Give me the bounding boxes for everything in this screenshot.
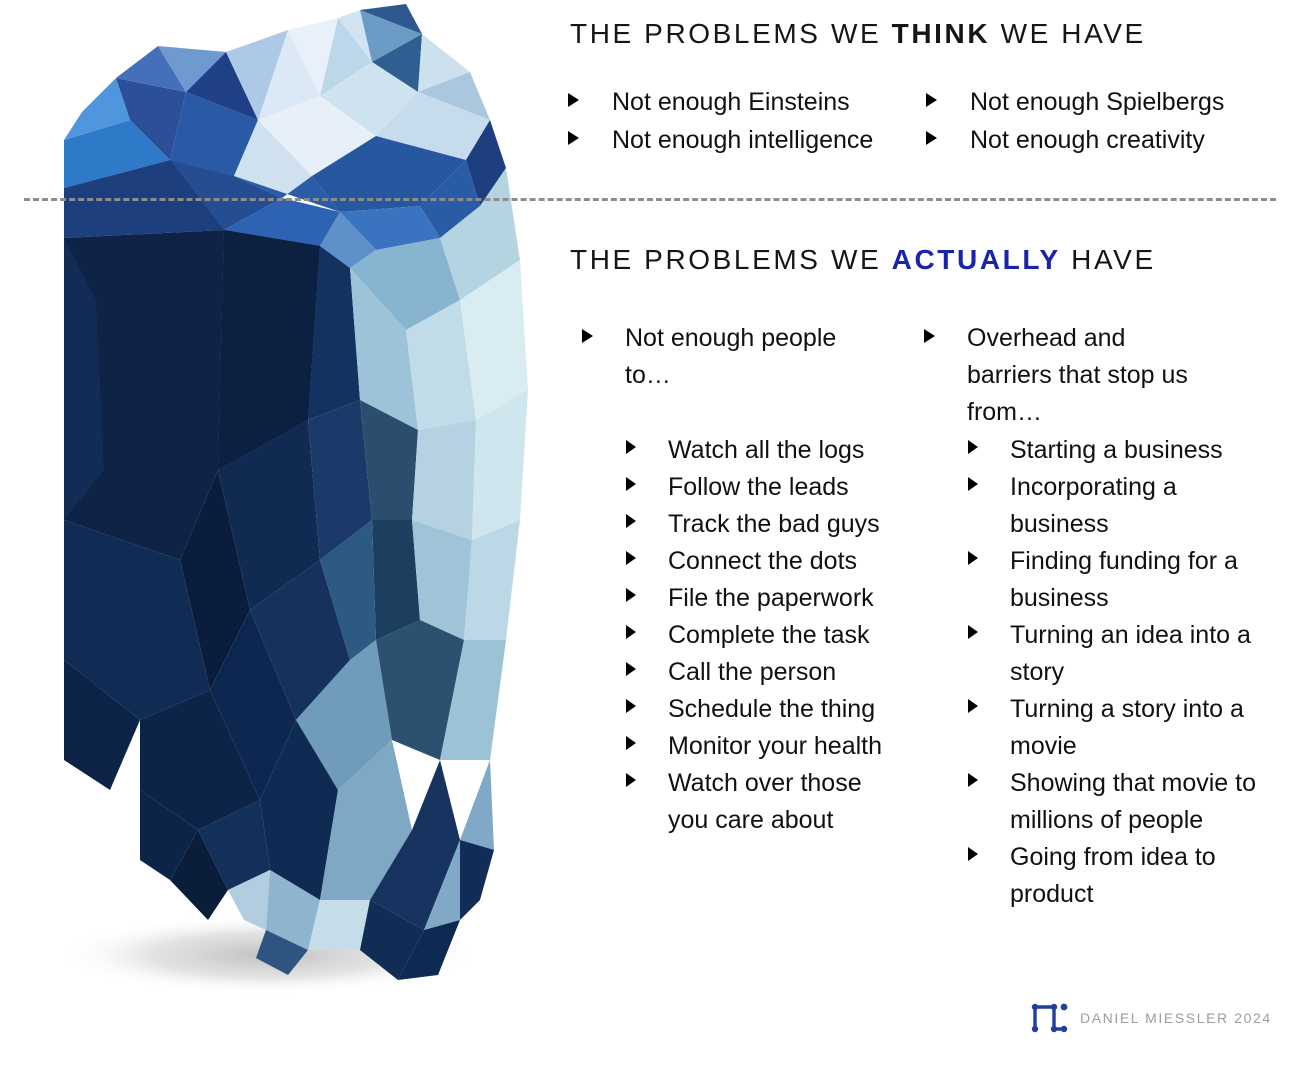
list-item-label: Watch over those you care about xyxy=(636,765,898,839)
triangle-bullet-icon xyxy=(626,551,636,565)
think-column-left: Not enough Einsteins Not enough intellig… xyxy=(568,84,926,160)
triangle-bullet-icon xyxy=(968,551,978,565)
triangle-bullet-icon xyxy=(568,131,579,145)
triangle-bullet-icon xyxy=(968,847,978,861)
list-item: Follow the leads xyxy=(626,469,923,506)
list-item-label: Not enough Spielbergs xyxy=(937,84,1224,121)
actually-column-left-heading: Not enough people to… xyxy=(568,320,923,431)
content-column: THE PROBLEMS WE THINK WE HAVE Not enough… xyxy=(568,0,1280,1072)
triangle-bullet-icon xyxy=(924,329,935,343)
list-item: Showing that movie to millions of people xyxy=(968,765,1280,839)
title-actually-emphasis: ACTUALLY xyxy=(892,244,1061,275)
list-item: Watch all the logs xyxy=(626,432,923,469)
list-item-label: Not enough Einsteins xyxy=(579,84,850,121)
list-item: Complete the task xyxy=(626,617,923,654)
triangle-bullet-icon xyxy=(626,662,636,676)
list-item-label: Monitor your health xyxy=(636,728,882,765)
list-item-label: Starting a business xyxy=(978,432,1223,469)
triangle-bullet-icon xyxy=(582,329,593,343)
triangle-bullet-icon xyxy=(626,514,636,528)
actually-sublist-left: Watch all the logs Follow the leads Trac… xyxy=(568,432,923,913)
list-item: Turning an idea into a story xyxy=(968,617,1280,691)
triangle-bullet-icon xyxy=(968,477,978,491)
triangle-bullet-icon xyxy=(626,477,636,491)
list-item: Watch over those you care about xyxy=(626,765,923,839)
low-poly-iceberg-svg xyxy=(20,0,540,1020)
list-item-label: Connect the dots xyxy=(636,543,857,580)
list-item: Overhead and barriers that stop us from… xyxy=(923,320,1280,431)
waterline-dashed-divider xyxy=(24,198,1276,201)
list-item: Not enough people to… xyxy=(568,320,923,394)
iceberg-body xyxy=(64,4,528,980)
triangle-bullet-icon xyxy=(626,440,636,454)
title-think-suffix: WE HAVE xyxy=(990,18,1146,49)
title-think-prefix: THE PROBLEMS WE xyxy=(570,18,892,49)
list-item: Starting a business xyxy=(968,432,1280,469)
triangle-bullet-icon xyxy=(568,93,579,107)
list-item: Schedule the thing xyxy=(626,691,923,728)
list-item-label: Finding funding for a business xyxy=(978,543,1258,617)
actually-top-level-lists: Not enough people to… Overhead and barri… xyxy=(568,320,1280,431)
title-think-emphasis: THINK xyxy=(892,18,991,49)
list-item: Monitor your health xyxy=(626,728,923,765)
list-item-label: Watch all the logs xyxy=(636,432,864,469)
list-item-label: Call the person xyxy=(636,654,836,691)
list-item: Turning a story into a movie xyxy=(968,691,1280,765)
title-actually-suffix: HAVE xyxy=(1061,244,1156,275)
list-item-label: Follow the leads xyxy=(636,469,849,506)
list-item: Going from idea to product xyxy=(968,839,1280,913)
actually-sublist-right: Starting a business Incorporating a busi… xyxy=(923,432,1280,913)
list-item: File the paperwork xyxy=(626,580,923,617)
triangle-bullet-icon xyxy=(926,93,937,107)
list-item-label: Overhead and barriers that stop us from… xyxy=(935,320,1217,431)
list-item-label: File the paperwork xyxy=(636,580,874,617)
daniel-miessler-logo-icon xyxy=(1030,1000,1070,1036)
list-item: Connect the dots xyxy=(626,543,923,580)
list-item-label: Not enough people to… xyxy=(593,320,875,394)
list-item-label: Turning a story into a movie xyxy=(978,691,1258,765)
triangle-bullet-icon xyxy=(626,588,636,602)
list-item: Not enough intelligence xyxy=(568,122,926,159)
list-item-label: Track the bad guys xyxy=(636,506,880,543)
list-item: Call the person xyxy=(626,654,923,691)
triangle-bullet-icon xyxy=(926,131,937,145)
list-item-label: Incorporating a business xyxy=(978,469,1258,543)
think-bullet-lists: Not enough Einsteins Not enough intellig… xyxy=(568,84,1280,160)
list-item: Not enough Einsteins xyxy=(568,84,926,121)
triangle-bullet-icon xyxy=(968,773,978,787)
iceberg-illustration xyxy=(20,0,540,1020)
list-item: Not enough creativity xyxy=(926,122,1280,159)
footer-credit: DANIEL MIESSLER 2024 xyxy=(1030,1000,1272,1036)
think-column-right: Not enough Spielbergs Not enough creativ… xyxy=(926,84,1280,160)
actually-sub-lists: Watch all the logs Follow the leads Trac… xyxy=(568,432,1280,913)
triangle-bullet-icon xyxy=(968,699,978,713)
triangle-bullet-icon xyxy=(626,625,636,639)
list-item: Track the bad guys xyxy=(626,506,923,543)
section-title-actually: THE PROBLEMS WE ACTUALLY HAVE xyxy=(570,244,1156,276)
title-actually-prefix: THE PROBLEMS WE xyxy=(570,244,892,275)
slide-root: THE PROBLEMS WE THINK WE HAVE Not enough… xyxy=(0,0,1292,1072)
actually-column-right-heading: Overhead and barriers that stop us from… xyxy=(923,320,1280,431)
footer-credit-label: DANIEL MIESSLER 2024 xyxy=(1080,1010,1272,1026)
triangle-bullet-icon xyxy=(626,773,636,787)
list-item-label: Not enough creativity xyxy=(937,122,1205,159)
list-item-label: Showing that movie to millions of people xyxy=(978,765,1258,839)
triangle-bullet-icon xyxy=(626,699,636,713)
list-item: Not enough Spielbergs xyxy=(926,84,1280,121)
section-title-think: THE PROBLEMS WE THINK WE HAVE xyxy=(570,18,1146,50)
list-item: Incorporating a business xyxy=(968,469,1280,543)
triangle-bullet-icon xyxy=(626,736,636,750)
list-item-label: Schedule the thing xyxy=(636,691,875,728)
list-item-label: Not enough intelligence xyxy=(579,122,873,159)
list-item-label: Going from idea to product xyxy=(978,839,1258,913)
list-item: Finding funding for a business xyxy=(968,543,1280,617)
list-item-label: Turning an idea into a story xyxy=(978,617,1258,691)
list-item-label: Complete the task xyxy=(636,617,870,654)
triangle-bullet-icon xyxy=(968,625,978,639)
triangle-bullet-icon xyxy=(968,440,978,454)
